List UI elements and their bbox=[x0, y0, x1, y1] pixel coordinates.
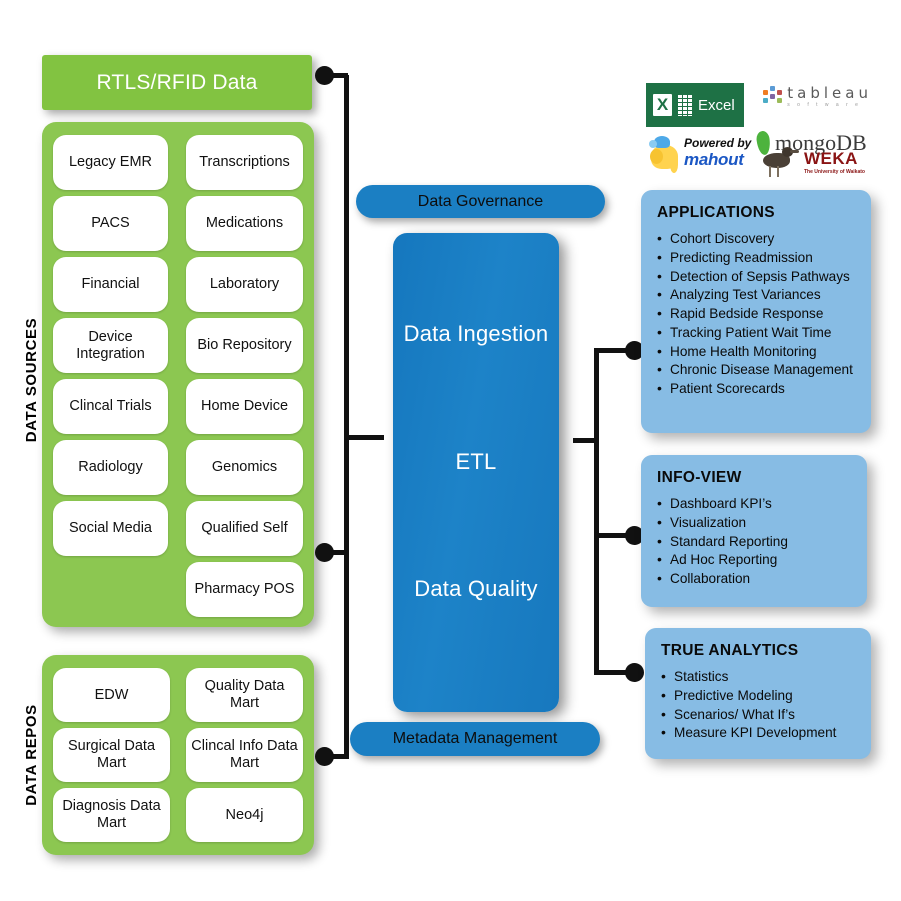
list-item[interactable]: Tracking Patient Wait Time bbox=[657, 324, 855, 343]
right-bus-dot-analytics bbox=[625, 663, 644, 682]
list-item[interactable]: Rapid Bedside Response bbox=[657, 305, 855, 324]
repo-box-label: Surgical Data Mart bbox=[57, 738, 166, 771]
repo-box-label: Diagnosis Data Mart bbox=[57, 798, 166, 831]
pipeline-stage-data-ingestion: Data Ingestion bbox=[404, 321, 549, 347]
source-box-label: Pharmacy POS bbox=[195, 581, 295, 598]
list-item[interactable]: Statistics bbox=[661, 668, 855, 687]
diagram-canvas: DATA SOURCES RTLS/RFID Data Legacy EMR P… bbox=[0, 0, 901, 901]
tableau-mark-icon bbox=[762, 86, 783, 106]
pipeline-stage-data-quality: Data Quality bbox=[414, 576, 537, 602]
list-item[interactable]: Analyzing Test Variances bbox=[657, 286, 855, 305]
repo-box-label: EDW bbox=[95, 687, 129, 704]
metadata-management-pill[interactable]: Metadata Management bbox=[350, 722, 600, 756]
list-item[interactable]: Cohort Discovery bbox=[657, 230, 855, 249]
source-box-label: Qualified Self bbox=[201, 520, 287, 537]
repo-box-diagnosis-data-mart[interactable]: Diagnosis Data Mart bbox=[53, 788, 170, 842]
weka-logo-sublabel: The University of Waikato bbox=[804, 169, 865, 175]
repo-box-label: Neo4j bbox=[226, 807, 264, 824]
source-box-label: Laboratory bbox=[210, 276, 279, 293]
source-box-transcriptions[interactable]: Transcriptions bbox=[186, 135, 303, 190]
true-analytics-panel-title: TRUE ANALYTICS bbox=[661, 642, 855, 660]
repo-box-label: Quality Data Mart bbox=[190, 678, 299, 711]
left-bus-vertical bbox=[344, 75, 349, 759]
source-box-label: Device Integration bbox=[57, 329, 164, 362]
left-bus-dot-top bbox=[315, 66, 334, 85]
source-box-device-integration[interactable]: Device Integration bbox=[53, 318, 168, 373]
mahout-logo-toplabel: Powered by bbox=[684, 136, 751, 150]
list-item[interactable]: Measure KPI Development bbox=[661, 724, 855, 743]
applications-panel-title: APPLICATIONS bbox=[657, 204, 855, 222]
left-bus-dot-mid bbox=[315, 543, 334, 562]
source-box-bio-repository[interactable]: Bio Repository bbox=[186, 318, 303, 373]
source-box-label: PACS bbox=[91, 215, 129, 232]
source-box-social-media[interactable]: Social Media bbox=[53, 501, 168, 556]
weka-logo-label: WEKA bbox=[804, 149, 865, 169]
info-view-panel: INFO-VIEW Dashboard KPI’s Visualization … bbox=[641, 455, 867, 607]
list-item[interactable]: Visualization bbox=[657, 514, 851, 533]
source-box-laboratory[interactable]: Laboratory bbox=[186, 257, 303, 312]
right-bus-stub-center-in bbox=[573, 438, 599, 443]
left-bus-stub-center-out bbox=[344, 435, 384, 440]
list-item[interactable]: Dashboard KPI’s bbox=[657, 495, 851, 514]
excel-x-icon: X bbox=[653, 94, 672, 116]
mahout-logo-label: mahout bbox=[684, 150, 751, 170]
true-analytics-list: Statistics Predictive Modeling Scenarios… bbox=[661, 668, 855, 743]
list-item[interactable]: Predictive Modeling bbox=[661, 687, 855, 706]
source-box-clinical-trials[interactable]: Clincal Trials bbox=[53, 379, 168, 434]
data-sources-side-label: DATA SOURCES bbox=[23, 315, 43, 445]
source-box-label: Social Media bbox=[69, 520, 152, 537]
pipeline-stage-etl: ETL bbox=[456, 449, 497, 475]
list-item[interactable]: Home Health Monitoring bbox=[657, 343, 855, 362]
list-item[interactable]: Standard Reporting bbox=[657, 533, 851, 552]
data-governance-label: Data Governance bbox=[418, 193, 543, 211]
source-box-label: Clincal Trials bbox=[69, 398, 151, 415]
source-box-home-device[interactable]: Home Device bbox=[186, 379, 303, 434]
repo-box-neo4j[interactable]: Neo4j bbox=[186, 788, 303, 842]
pipeline-stack: Data Ingestion ETL Data Quality bbox=[393, 233, 559, 712]
repo-box-clinical-info-data-mart[interactable]: Clincal Info Data Mart bbox=[186, 728, 303, 782]
list-item[interactable]: Detection of Sepsis Pathways bbox=[657, 268, 855, 287]
source-box-qualified-self[interactable]: Qualified Self bbox=[186, 501, 303, 556]
left-bus-dot-bottom bbox=[315, 747, 334, 766]
repo-box-surgical-data-mart[interactable]: Surgical Data Mart bbox=[53, 728, 170, 782]
source-box-legacy-emr[interactable]: Legacy EMR bbox=[53, 135, 168, 190]
source-box-medications[interactable]: Medications bbox=[186, 196, 303, 251]
source-box-label: Bio Repository bbox=[197, 337, 291, 354]
right-bus-vertical bbox=[594, 350, 599, 675]
source-box-financial[interactable]: Financial bbox=[53, 257, 168, 312]
metadata-management-label: Metadata Management bbox=[393, 730, 558, 748]
list-item[interactable]: Collaboration bbox=[657, 570, 851, 589]
mahout-logo: Powered by mahout bbox=[648, 135, 754, 177]
tableau-logo-sublabel: s o f t w a r e bbox=[787, 102, 872, 108]
list-item[interactable]: Chronic Disease Management bbox=[657, 361, 855, 380]
excel-logo: X Excel bbox=[646, 83, 744, 127]
list-item[interactable]: Scenarios/ What If’s bbox=[661, 706, 855, 725]
source-box-label: Radiology bbox=[78, 459, 143, 476]
source-box-label: Transcriptions bbox=[199, 154, 290, 171]
repo-box-quality-data-mart[interactable]: Quality Data Mart bbox=[186, 668, 303, 722]
excel-spreadsheet-icon bbox=[677, 94, 693, 116]
tableau-logo-label: tableau bbox=[787, 84, 872, 102]
repo-box-edw[interactable]: EDW bbox=[53, 668, 170, 722]
source-box-label: Medications bbox=[206, 215, 283, 232]
list-item[interactable]: Patient Scorecards bbox=[657, 380, 855, 399]
source-box-genomics[interactable]: Genomics bbox=[186, 440, 303, 495]
source-box-pharmacy-pos[interactable]: Pharmacy POS bbox=[186, 562, 303, 617]
weka-logo: WEKA The University of Waikato bbox=[757, 145, 869, 181]
list-item[interactable]: Predicting Readmission bbox=[657, 249, 855, 268]
data-repos-side-label: DATA REPOS bbox=[23, 690, 43, 820]
source-box-label: Legacy EMR bbox=[69, 154, 152, 171]
applications-list: Cohort Discovery Predicting Readmission … bbox=[657, 230, 855, 399]
weka-bird-icon bbox=[757, 145, 799, 179]
source-box-label: Home Device bbox=[201, 398, 288, 415]
excel-logo-label: Excel bbox=[698, 97, 735, 114]
rtls-rfid-header: RTLS/RFID Data bbox=[42, 55, 312, 110]
list-item[interactable]: Ad Hoc Reporting bbox=[657, 551, 851, 570]
applications-panel: APPLICATIONS Cohort Discovery Predicting… bbox=[641, 190, 871, 433]
data-governance-pill[interactable]: Data Governance bbox=[356, 185, 605, 218]
info-view-panel-title: INFO-VIEW bbox=[657, 469, 851, 487]
source-box-pacs[interactable]: PACS bbox=[53, 196, 168, 251]
mahout-elephant-icon bbox=[648, 135, 682, 175]
source-box-radiology[interactable]: Radiology bbox=[53, 440, 168, 495]
repo-box-label: Clincal Info Data Mart bbox=[190, 738, 299, 771]
source-box-label: Financial bbox=[81, 276, 139, 293]
source-box-label: Genomics bbox=[212, 459, 277, 476]
info-view-list: Dashboard KPI’s Visualization Standard R… bbox=[657, 495, 851, 589]
true-analytics-panel: TRUE ANALYTICS Statistics Predictive Mod… bbox=[645, 628, 871, 759]
tableau-logo: tableau s o f t w a r e bbox=[762, 84, 872, 116]
rtls-rfid-header-label: RTLS/RFID Data bbox=[96, 71, 257, 95]
